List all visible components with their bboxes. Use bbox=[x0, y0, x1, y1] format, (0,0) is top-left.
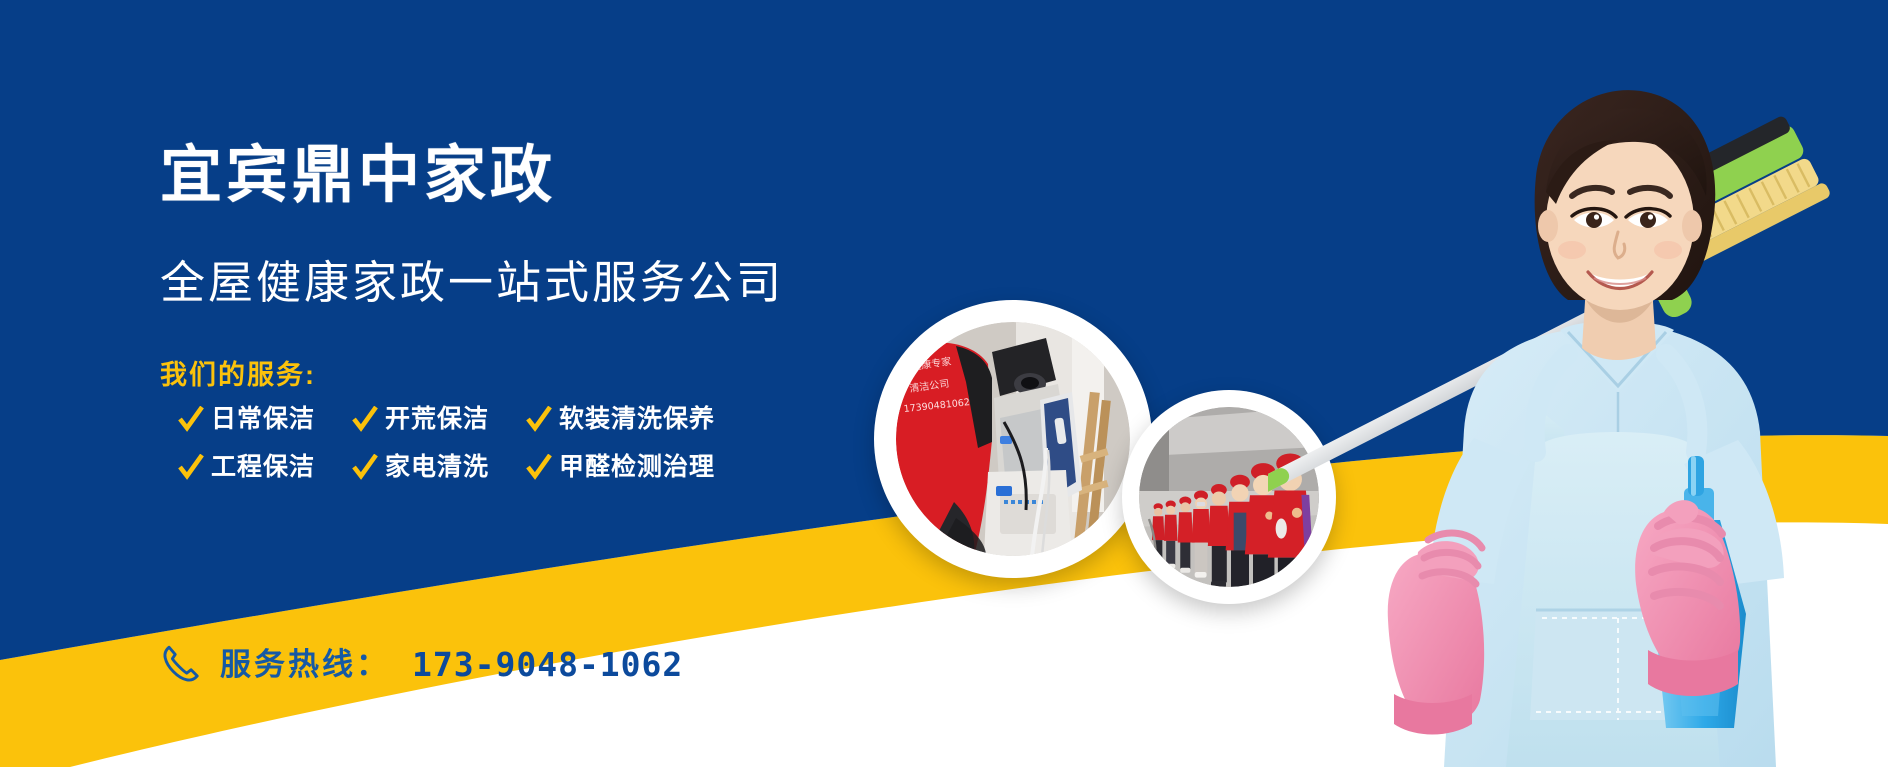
service-label: 家电清洗 bbox=[385, 455, 489, 480]
phone-icon bbox=[158, 641, 204, 687]
service-item: 甲醛检测治理 bbox=[526, 454, 715, 480]
service-label: 软装清洗保养 bbox=[559, 407, 715, 432]
service-item: 开荒保洁 bbox=[352, 406, 504, 432]
check-icon bbox=[352, 406, 378, 432]
service-label: 开荒保洁 bbox=[385, 407, 489, 432]
service-label: 甲醛检测治理 bbox=[559, 455, 715, 480]
check-icon bbox=[178, 454, 204, 480]
service-item: 软装清洗保养 bbox=[526, 406, 715, 432]
photo-circle-team bbox=[1122, 390, 1336, 604]
services-row: 工程保洁 家电清洗 甲醛检测治理 bbox=[178, 454, 737, 480]
services-row: 日常保洁 开荒保洁 软装清洗保养 bbox=[178, 406, 737, 432]
check-icon bbox=[526, 406, 552, 432]
service-label: 日常保洁 bbox=[211, 407, 315, 432]
hotline-label: 服务热线： bbox=[220, 649, 390, 680]
service-item: 工程保洁 bbox=[178, 454, 330, 480]
services-list: 日常保洁 开荒保洁 软装清洗保养 bbox=[178, 406, 737, 480]
page-title: 宜宾鼎中家政 bbox=[160, 144, 556, 206]
hotline-block[interactable]: 服务热线： 173-9048-1062 bbox=[158, 641, 683, 687]
brand-subtitle: 全屋健康家政一站式服务公司 bbox=[160, 260, 784, 305]
check-icon bbox=[526, 454, 552, 480]
check-icon bbox=[352, 454, 378, 480]
services-heading: 我们的服务: bbox=[160, 362, 316, 389]
service-label: 工程保洁 bbox=[211, 455, 315, 480]
promo-banner: 宜宾鼎中家政 全屋健康家政一站式服务公司 我们的服务: 日常保洁 开荒保洁 bbox=[0, 0, 1888, 767]
photo-inner bbox=[1139, 407, 1319, 587]
check-icon bbox=[178, 406, 204, 432]
service-item: 日常保洁 bbox=[178, 406, 330, 432]
service-item: 家电清洗 bbox=[352, 454, 504, 480]
hotline-number[interactable]: 173-9048-1062 bbox=[412, 648, 683, 681]
